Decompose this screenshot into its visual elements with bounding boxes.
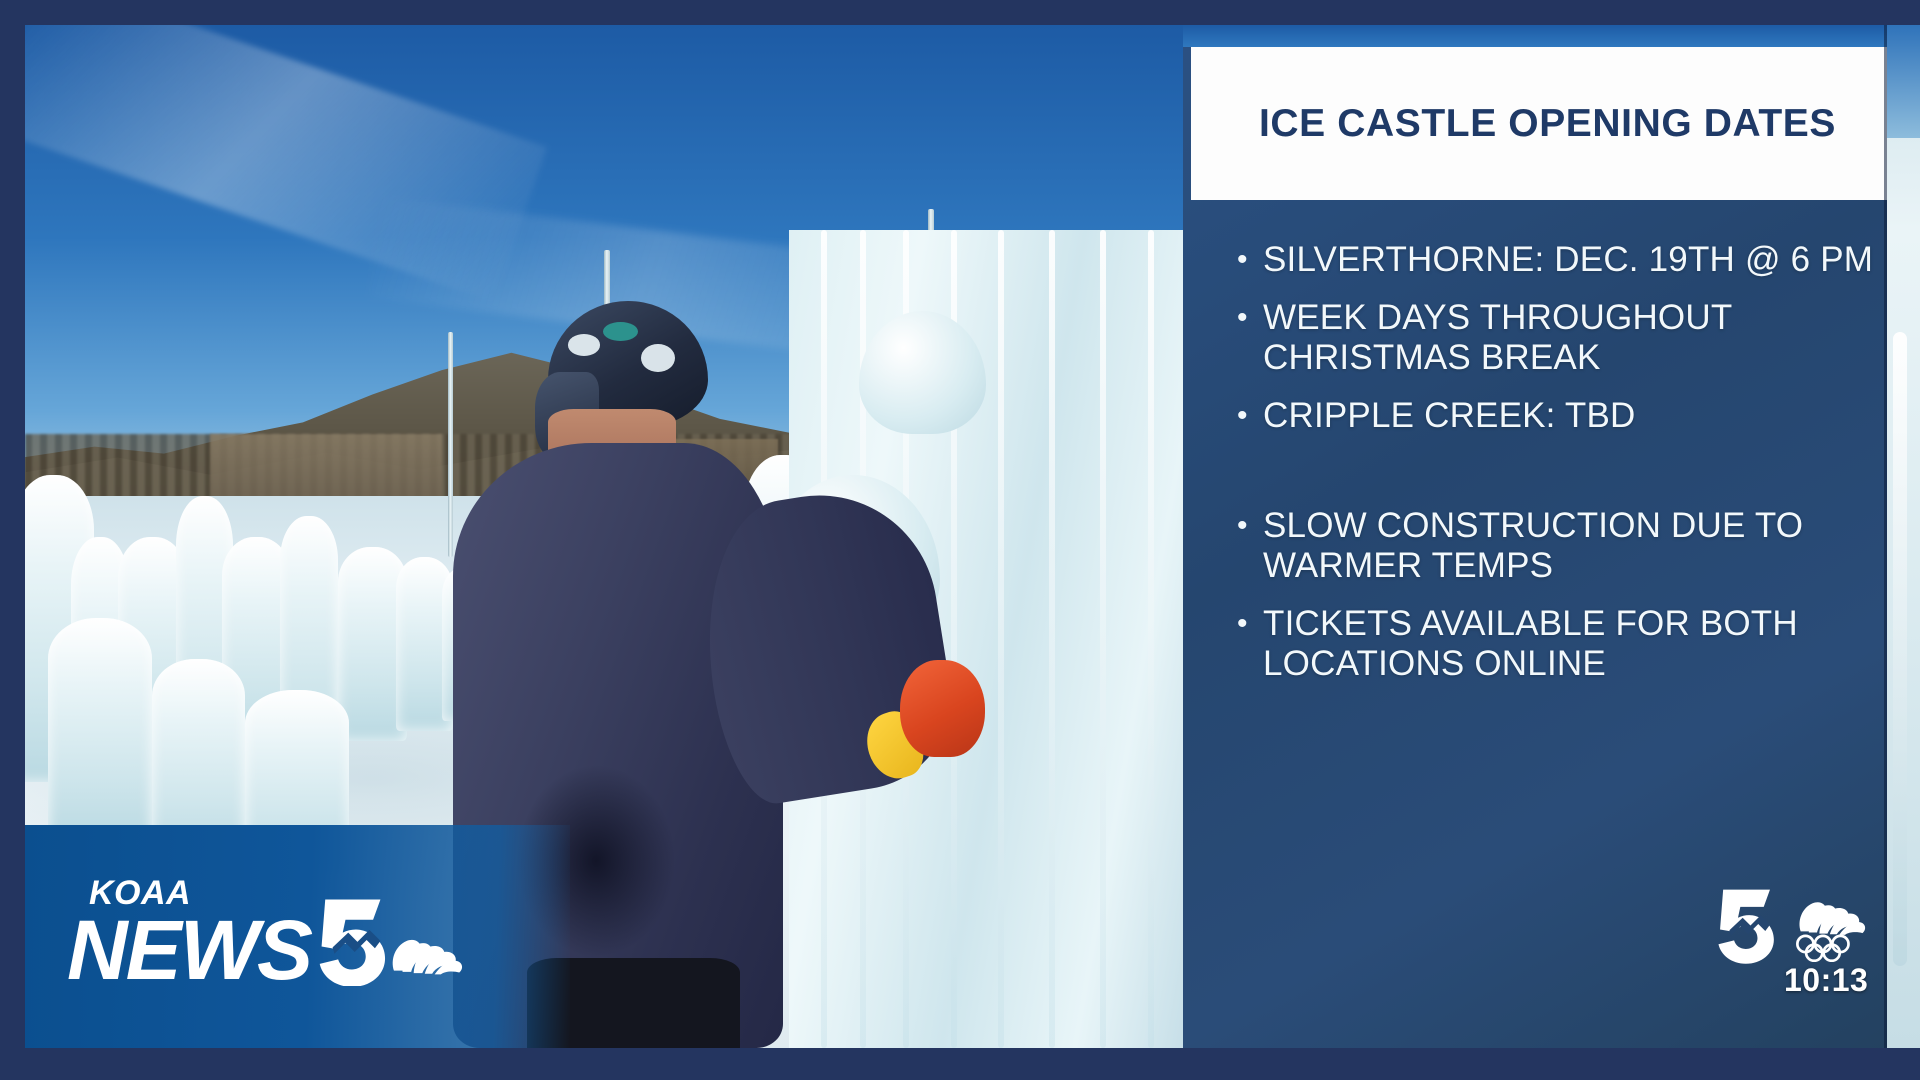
broadcast-screen: KOAA NEWS — [0, 0, 1920, 1080]
news5-lockup: NEWS — [67, 894, 463, 986]
bullet-icon: • — [1237, 240, 1263, 280]
bullet-list: • SILVERTHORNE: DEC. 19TH @ 6 PM • WEEK … — [1237, 240, 1877, 702]
station-bug: 10:13 — [1706, 878, 1884, 1008]
video-right-sliver — [1887, 25, 1920, 1048]
bullet-icon: • — [1237, 396, 1263, 436]
broadcast-content: KOAA NEWS — [25, 25, 1920, 1048]
ice-drip — [998, 230, 1004, 1048]
ice-drip — [1049, 230, 1055, 1048]
video-pane: KOAA NEWS — [25, 25, 1183, 1048]
clock-readout: 10:13 — [1784, 962, 1868, 999]
ice-spire — [48, 618, 152, 843]
bullet-icon: • — [1237, 298, 1263, 338]
lower-third-bar: KOAA NEWS — [25, 825, 570, 1048]
list-item-label: CRIPPLE CREEK: TBD — [1263, 396, 1636, 436]
ice-drip — [1100, 230, 1106, 1048]
helmet-sticker — [641, 344, 675, 372]
sliver-ice-drip — [1893, 332, 1907, 966]
olympic-rings-icon — [1794, 934, 1868, 962]
list-item: • SLOW CONSTRUCTION DUE TO WARMER TEMPS — [1237, 506, 1877, 586]
graphic-panel: ICE CASTLE OPENING DATES • SILVERTHORNE:… — [1183, 25, 1920, 1048]
news-wordmark: NEWS — [67, 915, 311, 986]
list-item: • TICKETS AVAILABLE FOR BOTH LOCATIONS O… — [1237, 604, 1877, 684]
nbc-peacock-icon — [1792, 880, 1870, 936]
bullet-icon: • — [1237, 506, 1263, 546]
orange-glove — [900, 660, 985, 757]
koaa-five-mountain-icon — [1706, 878, 1784, 970]
list-item-label: TICKETS AVAILABLE FOR BOTH LOCATIONS ONL… — [1263, 604, 1877, 684]
list-spacer — [1237, 454, 1877, 506]
list-item: • WEEK DAYS THROUGHOUT CHRISTMAS BREAK — [1237, 298, 1877, 378]
koaa-news5-logo: KOAA NEWS — [67, 872, 537, 992]
sliver-sky — [1887, 25, 1920, 138]
list-item: • SILVERTHORNE: DEC. 19TH @ 6 PM — [1237, 240, 1877, 280]
helmet-sticker — [568, 334, 600, 356]
list-item-label: SILVERTHORNE: DEC. 19TH @ 6 PM — [1263, 240, 1873, 280]
ice-drip — [1148, 230, 1154, 1048]
list-item-label: SLOW CONSTRUCTION DUE TO WARMER TEMPS — [1263, 506, 1877, 586]
helmet-sticker-teal — [603, 322, 638, 341]
bullet-icon: • — [1237, 604, 1263, 644]
graphic-title-card: ICE CASTLE OPENING DATES — [1191, 47, 1904, 200]
panel-top-strip — [1183, 25, 1920, 47]
page-title: ICE CASTLE OPENING DATES — [1259, 102, 1836, 146]
koaa-five-mountain-icon — [305, 894, 397, 986]
list-item-label: WEEK DAYS THROUGHOUT CHRISTMAS BREAK — [1263, 298, 1877, 378]
list-item: • CRIPPLE CREEK: TBD — [1237, 396, 1877, 436]
nbc-peacock-icon — [389, 916, 463, 976]
